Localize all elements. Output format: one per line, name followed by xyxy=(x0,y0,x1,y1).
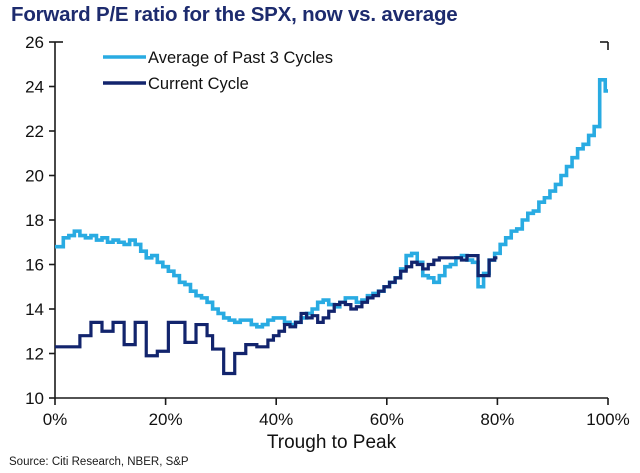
y-tick-label: 20 xyxy=(25,167,44,186)
y-tick-label: 22 xyxy=(25,122,44,141)
legend-label: Average of Past 3 Cycles xyxy=(148,49,333,67)
x-tick-label: 20% xyxy=(149,410,183,429)
chart-container: Forward P/E ratio for the SPX, now vs. a… xyxy=(0,0,640,473)
x-axis: 0%20%40%60%80%100% xyxy=(43,42,630,429)
y-tick-label: 18 xyxy=(25,211,44,230)
chart-plot-area: 101214161820222426 0%20%40%60%80%100% Av… xyxy=(0,0,640,473)
y-tick-label: 24 xyxy=(25,78,44,97)
y-tick-label: 12 xyxy=(25,345,44,364)
y-tick-label: 14 xyxy=(25,300,44,319)
x-tick-label: 100% xyxy=(586,410,629,429)
legend-label: Current Cycle xyxy=(148,75,249,93)
x-tick-label: 0% xyxy=(43,410,68,429)
x-tick-label: 60% xyxy=(370,410,404,429)
x-tick-label: 40% xyxy=(259,410,293,429)
series-line-current xyxy=(55,256,497,374)
y-tick-label: 16 xyxy=(25,256,44,275)
x-axis-title: Trough to Peak xyxy=(267,432,397,453)
y-tick-label: 26 xyxy=(25,33,44,52)
chart-legend: Average of Past 3 CyclesCurrent Cycle xyxy=(103,49,333,93)
series-line-average xyxy=(55,80,608,327)
y-axis: 101214161820222426 xyxy=(25,33,55,408)
x-axis-title-text: Trough to Peak xyxy=(267,432,397,453)
x-tick-label: 80% xyxy=(480,410,514,429)
y-tick-label: 10 xyxy=(25,389,44,408)
series-layer xyxy=(55,80,608,374)
source-note: Source: Citi Research, NBER, S&P xyxy=(9,456,189,468)
